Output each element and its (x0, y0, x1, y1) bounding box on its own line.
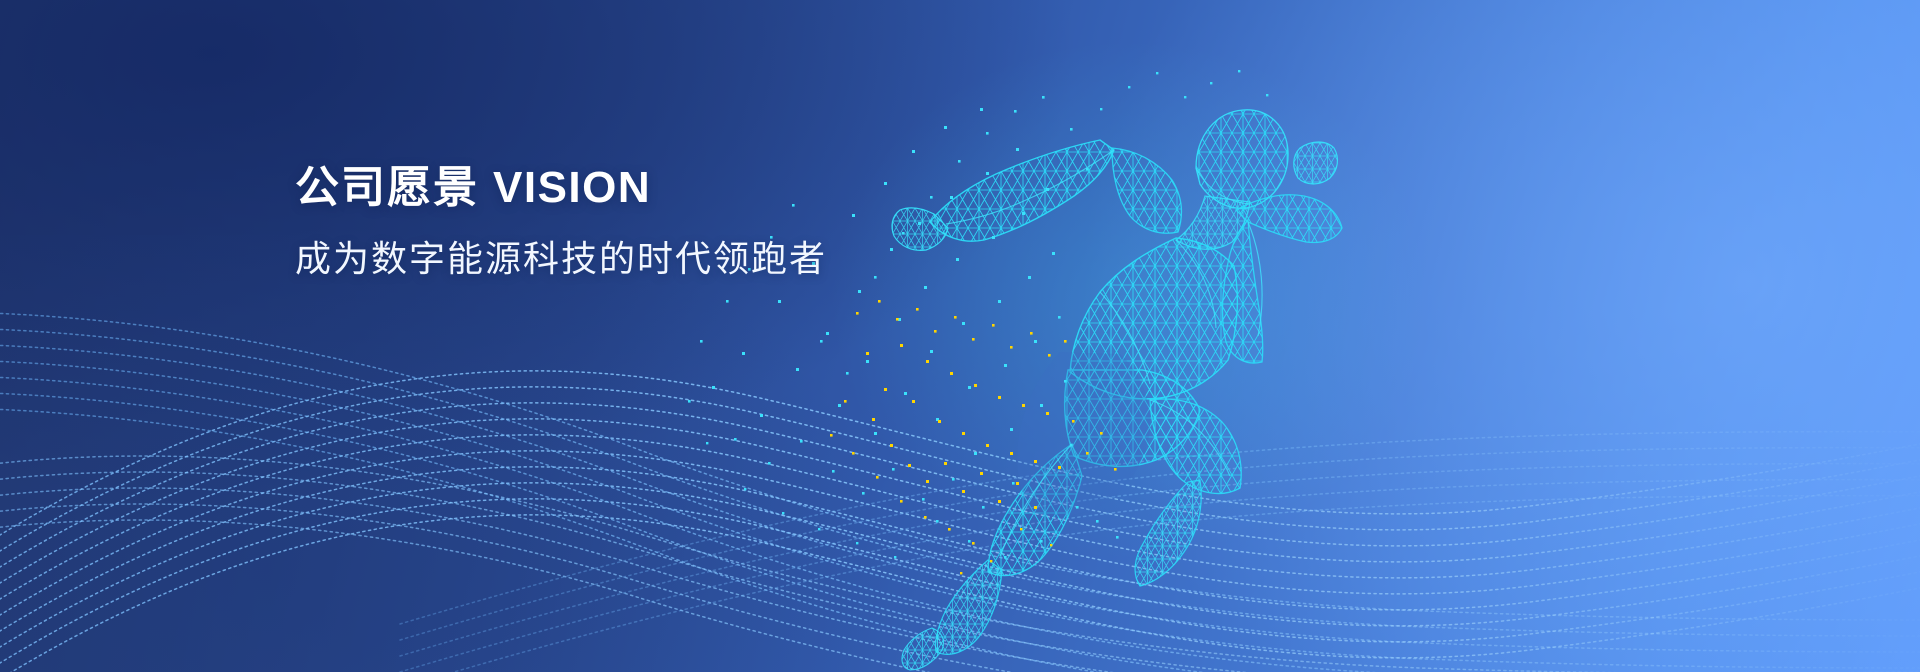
subtitle: 成为数字能源科技的时代领跑者 (295, 236, 827, 283)
headline-english: VISION (493, 163, 651, 212)
vision-text-block: 公司愿景VISION 成为数字能源科技的时代领跑者 (295, 162, 827, 283)
headline-chinese: 公司愿景 (295, 163, 479, 212)
particle-cloud-graphic (0, 0, 1920, 672)
headline: 公司愿景VISION (295, 162, 827, 214)
vision-banner: 公司愿景VISION 成为数字能源科技的时代领跑者 (0, 0, 1920, 672)
yellow-particles (830, 300, 1117, 574)
cyan-particles (688, 70, 1268, 559)
